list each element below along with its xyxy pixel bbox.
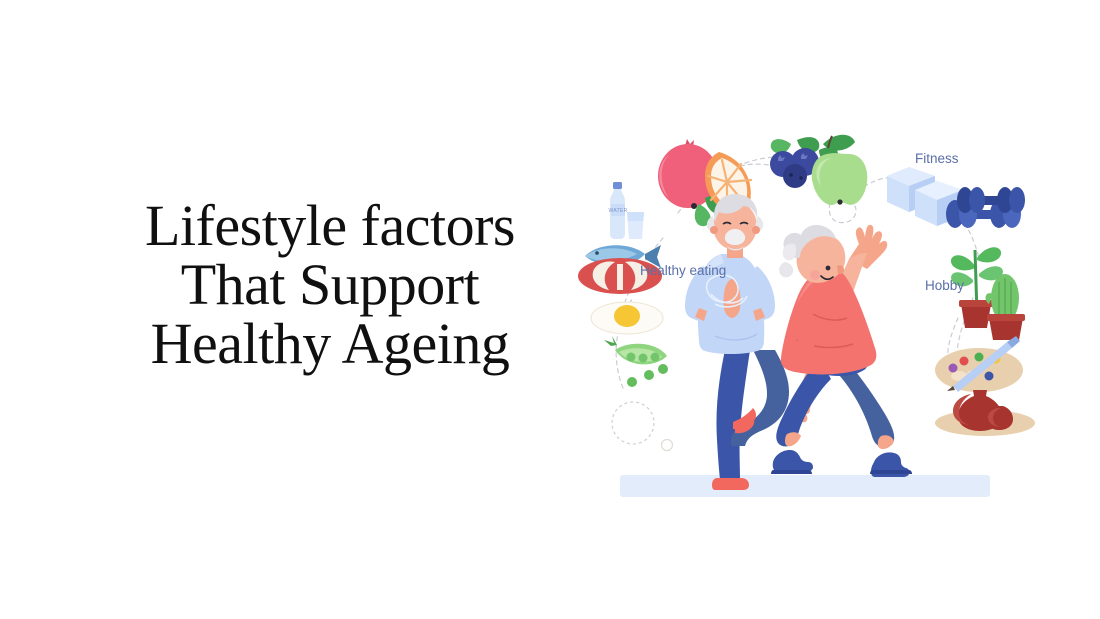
paint-palette-icon xyxy=(935,336,1023,392)
label-hobby: Hobby xyxy=(925,278,964,293)
pottery-icon xyxy=(935,390,1035,436)
banner: Lifestyle factors That Support Healthy A… xyxy=(0,0,1100,619)
healthy-ageing-illustration: WATER xyxy=(575,118,1035,513)
pea-pod-icon xyxy=(604,336,668,387)
label-fitness: Fitness xyxy=(915,151,959,166)
cactus-icon xyxy=(986,274,1025,340)
bottle-label: WATER xyxy=(609,208,628,214)
decor-circle-large xyxy=(612,402,654,444)
water-bottle-icon: WATER xyxy=(609,182,628,239)
water-glass-icon xyxy=(627,212,644,239)
title-line-1: Lifestyle factors xyxy=(60,196,600,255)
elderly-man-tree-pose xyxy=(685,194,789,490)
page-title: Lifestyle factors That Support Healthy A… xyxy=(60,196,600,373)
title-line-3: Healthy Ageing xyxy=(60,314,600,373)
woman-head xyxy=(779,225,845,283)
decor-circle-small xyxy=(662,440,673,451)
label-healthy-eating: Healthy eating xyxy=(640,263,726,278)
ground-platform xyxy=(620,475,990,497)
elderly-woman-triangle-pose xyxy=(771,225,912,477)
title-line-2: That Support xyxy=(60,255,600,314)
green-apple-icon xyxy=(812,135,868,205)
fried-egg-icon xyxy=(591,302,663,334)
